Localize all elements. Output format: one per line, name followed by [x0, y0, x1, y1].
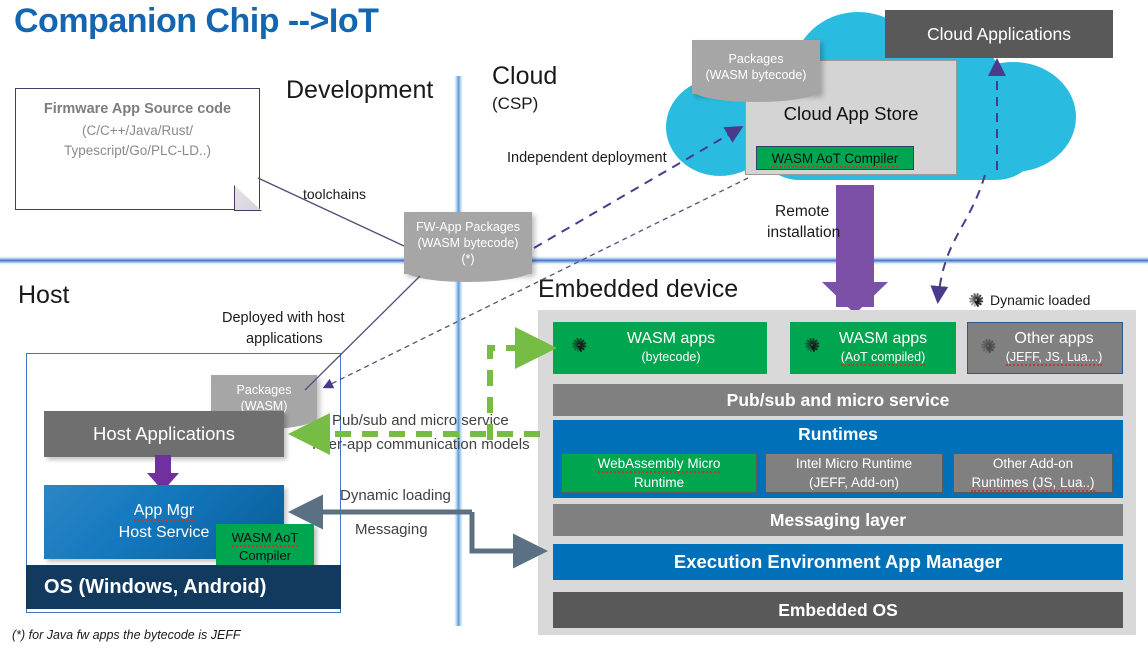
embedded-app-card-2: Other apps (JEFF, JS, Lua...)	[967, 322, 1123, 374]
zone-label-cloud-sub: (CSP)	[492, 94, 538, 114]
annotation-remote-line1: Remote	[775, 203, 829, 221]
package-cloud: Packages (WASM bytecode)	[692, 40, 820, 94]
host-aot-line2: Compiler	[239, 547, 291, 565]
firmware-source-line1: (C/C++/Java/Rust/	[16, 121, 259, 141]
annotation-inter-app: Inter-app communication models	[312, 436, 530, 453]
package-cloud-line2: (WASM bytecode)	[692, 67, 820, 83]
embedded-pubsub-label: Pub/sub and micro service	[727, 390, 950, 411]
footnote-text: (*) for Java fw apps the bytecode is JEF…	[12, 628, 241, 642]
package-host-line1: Packages	[211, 382, 317, 398]
cloud-wasm-aot-compiler: WASM AoT Compiler	[756, 146, 914, 170]
host-wasm-aot-compiler: WASM AoT Compiler	[216, 524, 314, 570]
spinner-icon	[567, 334, 589, 356]
spinner-icon-legend	[964, 289, 986, 311]
embedded-runtime-1-line2: (JEFF, Add-on)	[809, 473, 899, 492]
embedded-app-0-sub: (bytecode)	[641, 348, 700, 367]
host-os-bar: OS (Windows, Android)	[26, 565, 341, 609]
embedded-os-bar: Embedded OS	[553, 592, 1123, 628]
annotation-independent-deployment: Independent deployment	[507, 150, 667, 166]
annotation-deployed-line1: Deployed with host	[222, 310, 345, 326]
connector-cloud-to-other-apps	[938, 175, 985, 300]
zone-label-embedded-device: Embedded device	[538, 275, 738, 304]
annotation-messaging: Messaging	[355, 521, 428, 538]
zone-label-host: Host	[18, 281, 69, 310]
embedded-runtime-0: WebAssembly Micro Runtime	[561, 453, 757, 493]
annotation-dynamic-loading: Dynamic loading	[340, 487, 451, 504]
page-title: Companion Chip -->IoT	[14, 2, 378, 41]
connector-messaging	[472, 512, 538, 551]
cloud-aot-label: WASM AoT Compiler	[772, 151, 899, 168]
embedded-runtimes-title: Runtimes	[553, 422, 1123, 446]
spinner-icon	[800, 334, 822, 356]
package-fw-app: FW-App Packages (WASM bytecode) (*)	[404, 212, 532, 274]
app-mgr-line1: App Mgr	[134, 502, 194, 521]
embedded-runtime-1: Intel Micro Runtime (JEFF, Add-on)	[765, 453, 943, 493]
embedded-runtime-1-line1: Intel Micro Runtime	[796, 454, 912, 473]
embedded-runtime-0-line1: WebAssembly Micro	[598, 456, 721, 473]
embedded-app-manager-label: Execution Environment App Manager	[674, 551, 1002, 573]
embedded-pubsub-bar: Pub/sub and micro service	[553, 384, 1123, 416]
embedded-app-2-title: Other apps	[1014, 329, 1093, 348]
cloud-app-store-title: Cloud App Store	[746, 103, 956, 125]
embedded-runtime-0-line2: Runtime	[634, 473, 684, 492]
package-fw-line2: (WASM bytecode)	[404, 235, 532, 251]
legend-dynamic-loaded: Dynamic loaded	[990, 292, 1090, 308]
embedded-runtime-2: Other Add-on Runtimes (JS, Lua..)	[953, 453, 1113, 493]
footnote: (*) for Java fw apps the bytecode is JEF…	[12, 628, 241, 642]
annotation-pubsub-micro: Pub/sub and micro service	[332, 412, 509, 429]
annotation-deployed-line2: applications	[246, 331, 323, 347]
app-mgr-line2: Host Service	[119, 522, 210, 544]
embedded-messaging-label: Messaging layer	[770, 510, 906, 531]
host-aot-line1: WASM AoT	[232, 530, 299, 547]
embedded-messaging-layer: Messaging layer	[553, 504, 1123, 536]
embedded-runtimes-title-label: Runtimes	[798, 424, 878, 445]
package-fw-line1: FW-App Packages	[404, 219, 532, 235]
embedded-app-manager: Execution Environment App Manager	[553, 544, 1123, 580]
host-os-label: OS (Windows, Android)	[44, 576, 266, 599]
annotation-toolchains: toolchains	[303, 186, 366, 202]
embedded-os-label: Embedded OS	[778, 600, 898, 621]
zone-label-development: Development	[286, 76, 433, 105]
annotation-remote-line2: installation	[767, 224, 840, 242]
spinner-icon	[976, 335, 998, 357]
embedded-runtime-2-line1: Other Add-on	[993, 454, 1073, 473]
package-fw-line3: (*)	[404, 251, 532, 267]
embedded-app-0-title: WASM apps	[627, 329, 715, 348]
firmware-source-heading: Firmware App Source code	[16, 101, 259, 117]
package-cloud-line1: Packages	[692, 51, 820, 67]
diagram-canvas: Companion Chip -->IoT Development Cloud …	[0, 0, 1148, 653]
embedded-app-card-1: WASM apps (AoT compiled)	[790, 322, 956, 374]
embedded-app-1-title: WASM apps	[839, 329, 927, 348]
zone-label-cloud: Cloud	[492, 62, 557, 91]
firmware-source-line2: Typescript/Go/PLC-LD..)	[16, 141, 259, 161]
embedded-app-1-sub: (AoT compiled)	[841, 350, 926, 366]
cloud-applications-box: Cloud Applications	[885, 10, 1113, 58]
horizontal-divider	[0, 256, 1148, 265]
host-applications-label: Host Applications	[93, 423, 235, 445]
firmware-source-code-box: Firmware App Source code (C/C++/Java/Rus…	[15, 88, 260, 210]
embedded-runtime-2-line2: Runtimes (JS, Lua..)	[971, 475, 1094, 492]
embedded-app-2-sub: (JEFF, JS, Lua...)	[1006, 350, 1103, 366]
host-applications-box: Host Applications	[44, 411, 284, 457]
embedded-app-card-0: WASM apps (bytecode)	[553, 322, 767, 374]
cloud-applications-label: Cloud Applications	[927, 24, 1071, 45]
